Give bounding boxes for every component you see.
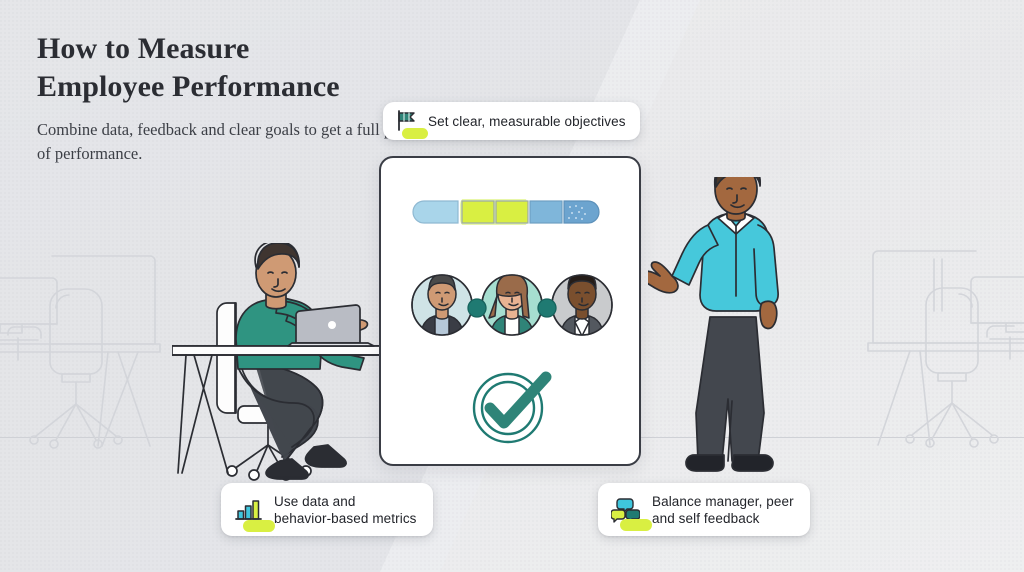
office-furniture-right [848, 245, 1024, 450]
check-circle-icon [460, 361, 565, 449]
page-title: How to Measure Employee Performance [37, 30, 437, 106]
flag-highlight [402, 128, 428, 139]
header-block: How to Measure Employee Performance Comb… [37, 30, 437, 166]
page-title-line-1: How to Measure [37, 30, 437, 68]
bar-chart-icon [233, 494, 263, 526]
feedback-bubbles-icon [610, 494, 641, 525]
standing-manager [648, 177, 806, 477]
page-subtitle: Combine data, feedback and clear goals t… [37, 118, 437, 166]
page-title-line-2: Employee Performance [37, 68, 437, 106]
callout-feedback-label: Balance manager, peer and self feedback [652, 493, 794, 527]
callout-metrics-label: Use data and behavior-based metrics [274, 493, 417, 527]
infographic-canvas: How to Measure Employee Performance Comb… [0, 0, 1024, 572]
performance-card [379, 156, 641, 466]
avatar-row [409, 274, 615, 336]
flag-icon [394, 108, 419, 134]
bar-chart-highlight [243, 520, 275, 532]
feedback-highlight [620, 519, 652, 531]
seated-employee [172, 243, 384, 481]
callout-use-data-metrics[interactable]: Use data and behavior-based metrics [221, 483, 433, 536]
callout-balance-feedback[interactable]: Balance manager, peer and self feedback [598, 483, 810, 536]
callout-objectives-label: Set clear, measurable objectives [428, 113, 626, 130]
segmented-progress-bar [412, 199, 612, 225]
callout-set-objectives[interactable]: Set clear, measurable objectives [383, 102, 640, 140]
office-furniture-left [0, 250, 180, 450]
